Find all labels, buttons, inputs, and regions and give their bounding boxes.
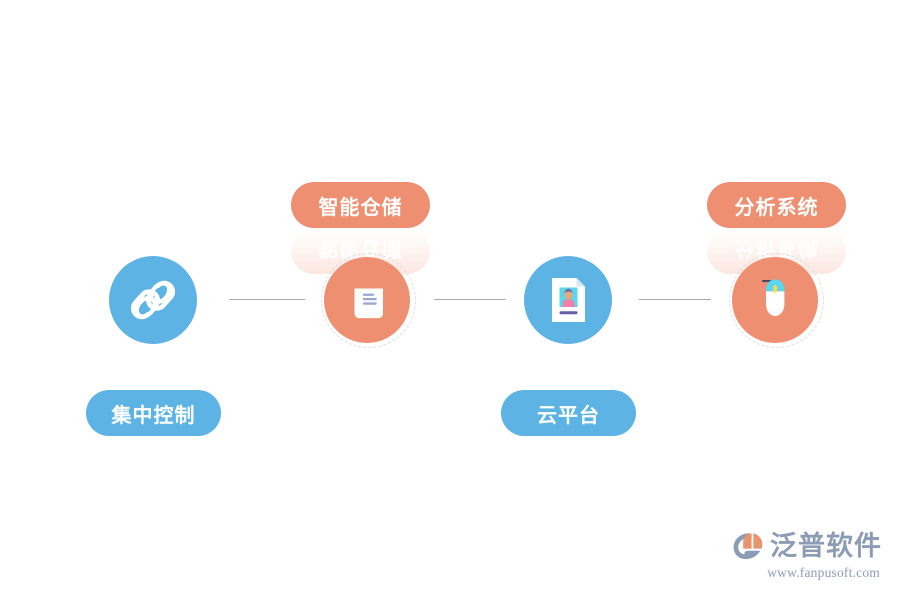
computer-mouse-icon <box>750 274 800 326</box>
node-4-circle[interactable] <box>732 257 818 343</box>
watermark-logo-row: 泛普软件 <box>732 528 882 564</box>
diagram-canvas: 集中控制 智能仓储 智能仓储 <box>0 0 900 600</box>
node-1-label-pill[interactable]: 集中控制 <box>86 390 221 436</box>
connector-node3-node4 <box>639 299 711 300</box>
node-3-circle[interactable] <box>524 256 612 344</box>
node-2-circle[interactable] <box>324 257 410 343</box>
node-3-label-text: 云平台 <box>537 399 600 428</box>
node-1-label-text: 集中控制 <box>112 399 196 428</box>
node-4-label-pill[interactable]: 分析系统 <box>707 182 846 228</box>
watermark-logo: 泛普软件 www.fanpusoft.com <box>732 528 882 586</box>
node-3-label-pill[interactable]: 云平台 <box>501 390 636 436</box>
id-card-document-icon <box>543 273 593 327</box>
connector-node1-node2 <box>229 299 305 300</box>
scroll-document-icon <box>342 275 392 325</box>
node-2-label-text: 智能仓储 <box>319 191 403 220</box>
node-4-label-text: 分析系统 <box>735 191 819 220</box>
connector-node2-node3 <box>434 299 506 300</box>
node-1-circle[interactable] <box>109 256 197 344</box>
node-2-label-pill[interactable]: 智能仓储 <box>291 182 430 228</box>
fanpu-swoosh-logo-icon <box>732 530 768 562</box>
watermark-url: www.fanpusoft.com <box>732 565 882 581</box>
watermark-brand-name: 泛普软件 <box>770 533 882 560</box>
chain-link-icon <box>127 274 179 326</box>
